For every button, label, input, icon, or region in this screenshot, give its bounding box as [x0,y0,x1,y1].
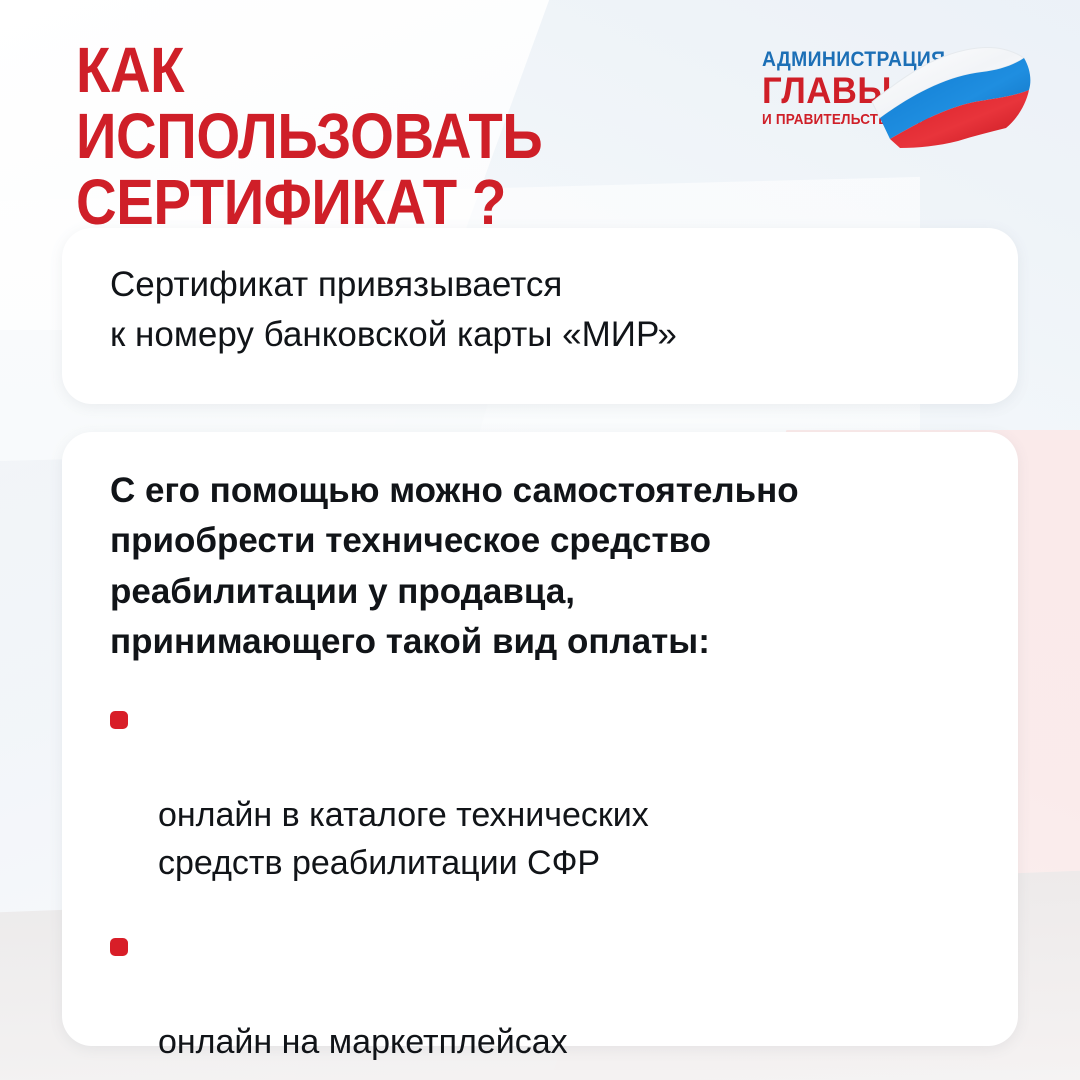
list-item: онлайн на маркетплейсах [106,921,986,1066]
card-binding-text: Сертификат привязывается к номеру банков… [110,260,677,361]
list-item-label: онлайн на маркетплейсах [158,1023,568,1061]
card-certificate-binding: Сертификат привязывается к номеру банков… [62,228,1018,404]
bullet-square-icon [110,938,128,956]
poster-root: КАК ИСПОЛЬЗОВАТЬ СЕРТИФИКАТ ? АДМИНИСТРА… [0,0,1080,1080]
russian-tricolor-flag-icon [866,44,1056,154]
card-certificate-usage: С его помощью можно самостоятельно приоб… [62,432,1018,1046]
list-item-label: онлайн в каталоге технических средств ре… [158,796,649,882]
poster-header: КАК ИСПОЛЬЗОВАТЬ СЕРТИФИКАТ ? АДМИНИСТРА… [0,0,1080,210]
page-title: КАК ИСПОЛЬЗОВАТЬ СЕРТИФИКАТ ? [76,38,657,236]
payment-methods-list: онлайн в каталоге технических средств ре… [106,694,986,1080]
bullet-square-icon [110,711,128,729]
government-logo: АДМИНИСТРАЦИЯ ГЛАВЫ И ПРАВИТЕЛЬСТВА ДНР [738,40,1058,168]
list-item: онлайн в каталоге технических средств ре… [106,694,986,887]
card-usage-heading: С его помощью можно самостоятельно приоб… [110,466,990,668]
